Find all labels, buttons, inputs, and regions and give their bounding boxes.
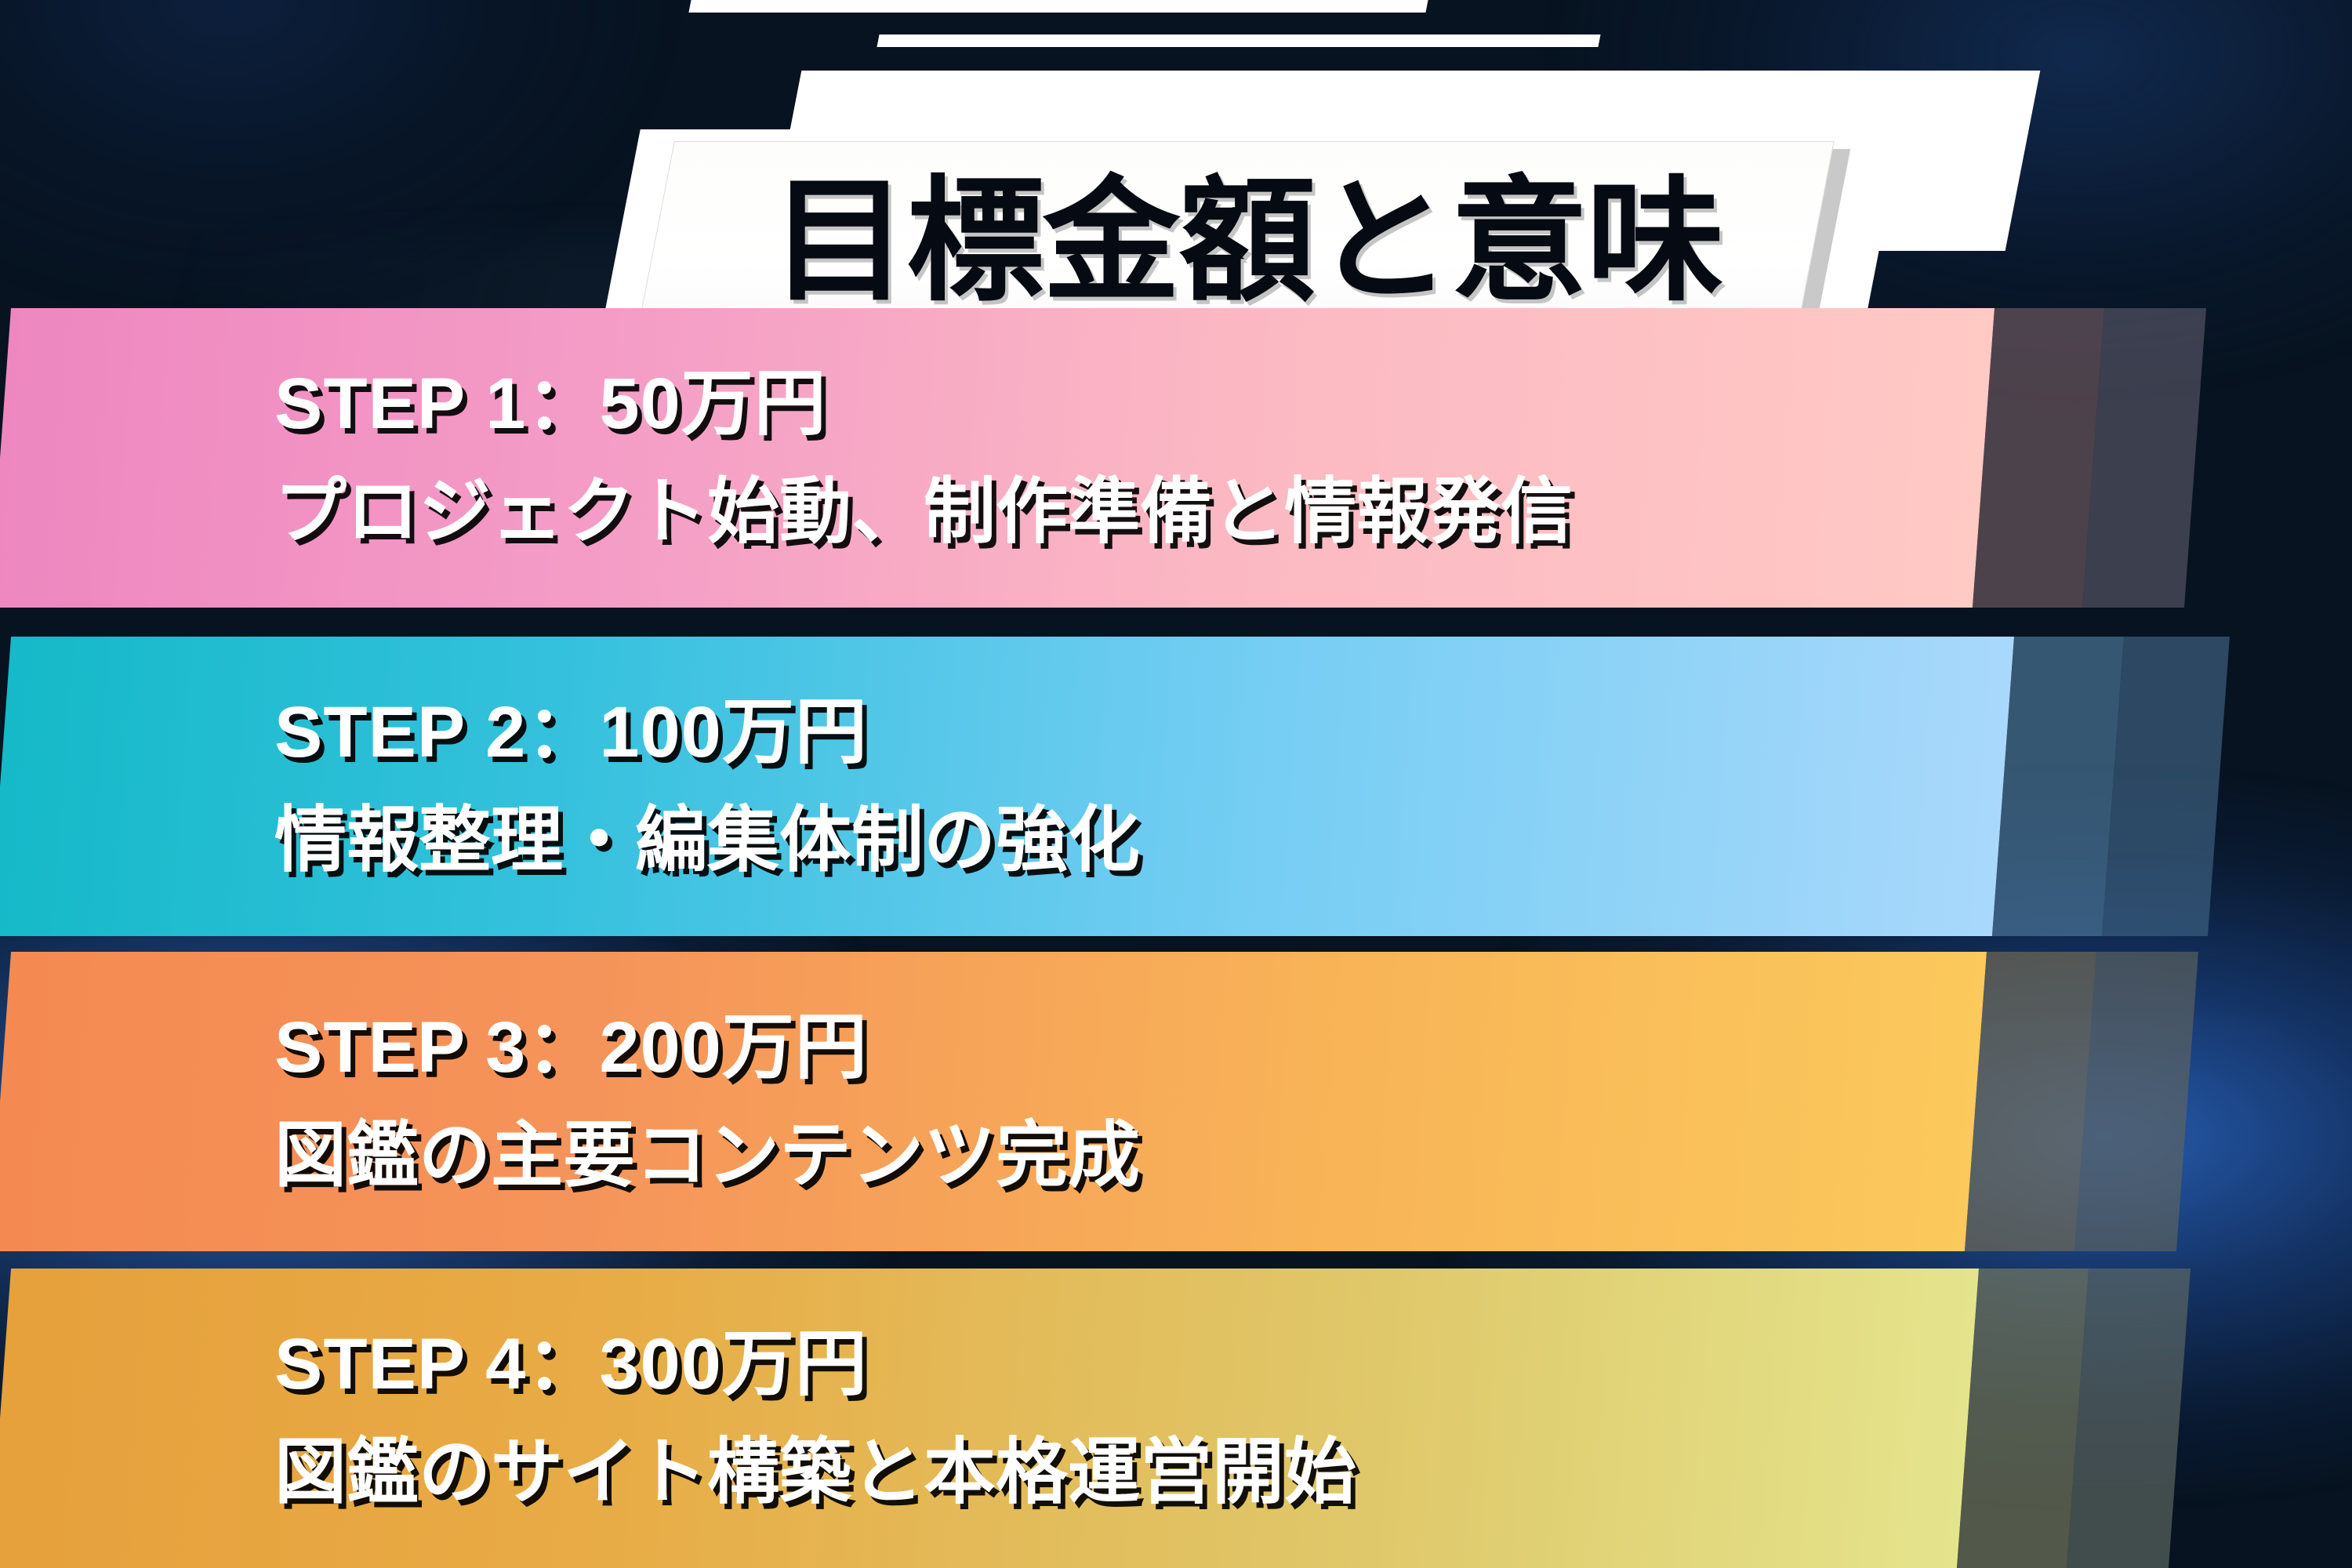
title-banner: 目標金額と意味 bbox=[0, 0, 2352, 306]
step-bar-4-tail-2 bbox=[2067, 1269, 2190, 1568]
slide-canvas: 目標金額と意味 STEP 1：50万円 プロジェクト始動、制作準備と情報発信 S… bbox=[0, 0, 2352, 1568]
step-4-description: 図鑑のサイト構築と本格運営開始 bbox=[274, 1436, 1356, 1508]
step-1-description: プロジェクト始動、制作準備と情報発信 bbox=[274, 476, 1573, 548]
title-decoration-line-top-2 bbox=[877, 34, 1600, 47]
step-bar-4-text: STEP 4：300万円 図鑑のサイト構築と本格運営開始 bbox=[0, 1269, 1356, 1568]
page-title-text: 目標金額と意味 bbox=[771, 174, 1722, 309]
step-bar-3-tail-2 bbox=[2074, 952, 2198, 1251]
step-bar-4-tail-1 bbox=[1957, 1269, 2089, 1568]
title-decoration-line-top-1 bbox=[688, 0, 1428, 13]
step-bar-1-tail-2 bbox=[2082, 308, 2206, 608]
step-bar-1-tail-1 bbox=[1973, 308, 2104, 608]
step-bar-2[interactable]: STEP 2：100万円 情報整理・編集体制の強化 bbox=[0, 637, 2219, 936]
step-bar-1[interactable]: STEP 1：50万円 プロジェクト始動、制作準備と情報発信 bbox=[0, 308, 2195, 608]
step-3-amount: STEP 3：200万円 bbox=[274, 1011, 1140, 1083]
step-2-description: 情報整理・編集体制の強化 bbox=[274, 804, 1140, 877]
step-2-amount: STEP 2：100万円 bbox=[274, 696, 1140, 768]
step-bar-2-tail-1 bbox=[1992, 637, 2124, 936]
step-bar-3-text: STEP 3：200万円 図鑑の主要コンテンツ完成 bbox=[0, 952, 1140, 1251]
step-bar-4[interactable]: STEP 4：300万円 図鑑のサイト構築と本格運営開始 bbox=[0, 1269, 2180, 1568]
step-bar-2-tail-2 bbox=[2102, 637, 2230, 936]
page-title: 目標金額と意味 bbox=[672, 147, 1822, 336]
step-bar-3[interactable]: STEP 3：200万円 図鑑の主要コンテンツ完成 bbox=[0, 952, 2187, 1251]
step-3-description: 図鑑の主要コンテンツ完成 bbox=[274, 1120, 1140, 1192]
step-bar-1-text: STEP 1：50万円 プロジェクト始動、制作準備と情報発信 bbox=[0, 308, 1573, 608]
step-4-amount: STEP 4：300万円 bbox=[274, 1328, 1356, 1400]
step-bar-2-text: STEP 2：100万円 情報整理・編集体制の強化 bbox=[0, 637, 1140, 936]
step-1-amount: STEP 1：50万円 bbox=[274, 368, 1573, 440]
step-bar-3-tail-1 bbox=[1965, 952, 2096, 1251]
